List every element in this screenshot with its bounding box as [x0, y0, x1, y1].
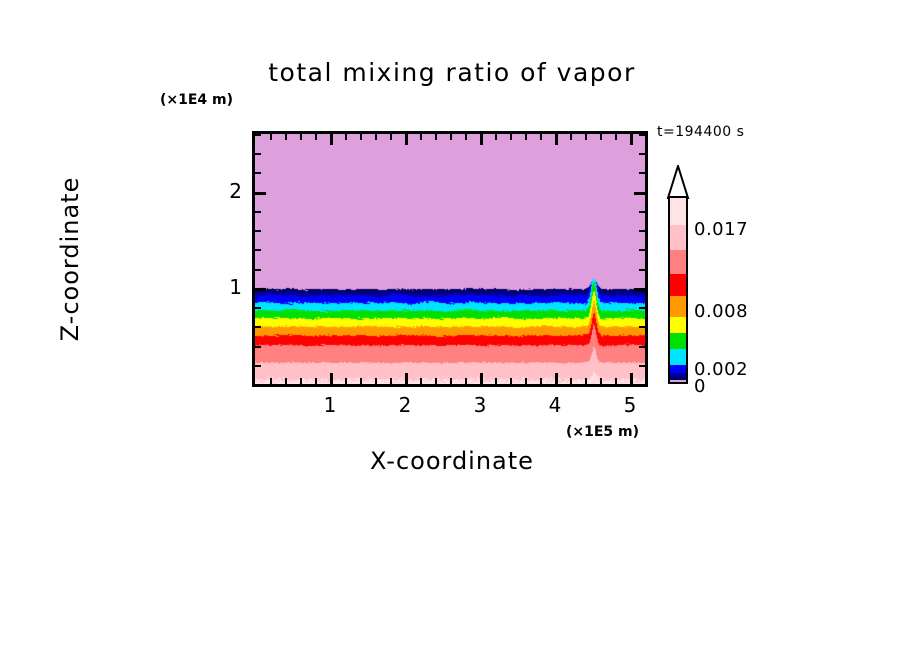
- x-tick-top: [435, 134, 437, 140]
- y-tick-label: 1: [212, 275, 242, 299]
- colorbar-tick-label: 0.008: [694, 301, 748, 322]
- colorbar-arrow-icon: [666, 165, 690, 199]
- y-tick-right: [639, 249, 645, 251]
- x-axis-title: X-coordinate: [0, 447, 904, 475]
- y-tick-right: [639, 172, 645, 174]
- contour-field-canvas: [255, 134, 645, 384]
- x-tick-bottom: [465, 378, 467, 384]
- x-tick-top: [555, 134, 558, 145]
- x-tick-bottom: [450, 378, 452, 384]
- x-tick-top: [315, 134, 317, 140]
- x-tick-top: [405, 134, 408, 145]
- y-tick-left: [255, 230, 261, 232]
- x-tick-bottom: [630, 373, 633, 384]
- y-tick-left: [255, 346, 261, 348]
- x-tick-bottom: [510, 378, 512, 384]
- colorbar-segment: [670, 274, 686, 298]
- x-tick-top: [360, 134, 362, 140]
- plot-area: [252, 131, 648, 387]
- page-title: total mixing ratio of vapor: [0, 58, 904, 87]
- y-tick-right: [639, 326, 645, 328]
- y-tick-label: 2: [212, 179, 242, 203]
- x-tick-bottom: [615, 378, 617, 384]
- x-tick-bottom: [435, 378, 437, 384]
- x-tick-bottom: [600, 378, 602, 384]
- x-tick-label: 1: [310, 393, 350, 417]
- y-tick-left: [255, 249, 261, 251]
- colorbar-tick-label: 0: [694, 376, 706, 397]
- x-tick-top: [615, 134, 617, 140]
- x-tick-bottom: [375, 378, 377, 384]
- y-tick-right: [639, 134, 645, 136]
- x-tick-bottom: [270, 378, 272, 384]
- x-tick-top: [510, 134, 512, 140]
- x-tick-bottom: [315, 378, 317, 384]
- x-tick-label: 3: [460, 393, 500, 417]
- x-tick-bottom: [285, 378, 287, 384]
- x-tick-top: [330, 134, 333, 145]
- timestamp-annotation: t=194400 s: [657, 124, 744, 140]
- y-tick-left: [255, 326, 261, 328]
- y-tick-right: [634, 192, 645, 195]
- x-tick-top: [525, 134, 527, 140]
- x-tick-top: [585, 134, 587, 140]
- x-tick-top: [495, 134, 497, 140]
- x-tick-label: 2: [385, 393, 425, 417]
- y-tick-left: [255, 172, 261, 174]
- x-tick-top: [645, 134, 647, 140]
- x-tick-bottom: [405, 373, 408, 384]
- x-tick-top: [480, 134, 483, 145]
- y-tick-left: [255, 288, 266, 291]
- y-tick-left: [255, 192, 266, 195]
- colorbar-segment: [670, 198, 686, 227]
- x-tick-bottom: [525, 378, 527, 384]
- x-tick-bottom: [495, 378, 497, 384]
- colorbar-segment: [670, 225, 686, 252]
- x-tick-bottom: [645, 378, 647, 384]
- y-tick-right: [639, 307, 645, 309]
- x-tick-bottom: [345, 378, 347, 384]
- x-tick-bottom: [420, 378, 422, 384]
- x-tick-top: [540, 134, 542, 140]
- x-tick-top: [420, 134, 422, 140]
- x-tick-top: [390, 134, 392, 140]
- x-tick-bottom: [555, 373, 558, 384]
- y-axis-unit-label: (×1E4 m): [160, 92, 233, 108]
- colorbar-tick-label: 0.017: [694, 219, 748, 240]
- y-axis-title: Z-coordinate: [56, 129, 84, 389]
- x-tick-bottom: [390, 378, 392, 384]
- x-tick-top: [285, 134, 287, 140]
- x-tick-top: [630, 134, 633, 145]
- x-axis-unit-label: (×1E5 m): [566, 424, 639, 440]
- x-tick-top: [465, 134, 467, 140]
- x-tick-bottom: [360, 378, 362, 384]
- x-tick-top: [600, 134, 602, 140]
- x-tick-top: [450, 134, 452, 140]
- x-tick-bottom: [570, 378, 572, 384]
- y-tick-left: [255, 153, 261, 155]
- colorbar-segment: [670, 296, 686, 318]
- x-tick-bottom: [300, 378, 302, 384]
- x-tick-label: 4: [535, 393, 575, 417]
- x-tick-bottom: [330, 373, 333, 384]
- y-tick-right: [639, 230, 645, 232]
- y-tick-right: [639, 346, 645, 348]
- x-tick-top: [570, 134, 572, 140]
- y-tick-left: [255, 269, 261, 271]
- x-tick-top: [300, 134, 302, 140]
- y-tick-left: [255, 134, 261, 136]
- x-tick-label: 5: [610, 393, 650, 417]
- y-tick-right: [639, 269, 645, 271]
- y-tick-left: [255, 211, 261, 213]
- y-tick-right: [639, 365, 645, 367]
- y-tick-left: [255, 307, 261, 309]
- colorbar-segment: [670, 380, 686, 382]
- x-tick-bottom: [480, 373, 483, 384]
- y-tick-right: [639, 211, 645, 213]
- contour-plot-figure: total mixing ratio of vapor (×1E4 m) t=1…: [0, 0, 904, 654]
- x-tick-bottom: [585, 378, 587, 384]
- x-tick-top: [375, 134, 377, 140]
- colorbar-segment: [670, 250, 686, 277]
- y-tick-left: [255, 365, 261, 367]
- colorbar: [668, 196, 688, 384]
- x-tick-bottom: [540, 378, 542, 384]
- y-tick-right: [639, 153, 645, 155]
- x-tick-top: [345, 134, 347, 140]
- x-tick-top: [270, 134, 272, 140]
- y-tick-right: [634, 288, 645, 291]
